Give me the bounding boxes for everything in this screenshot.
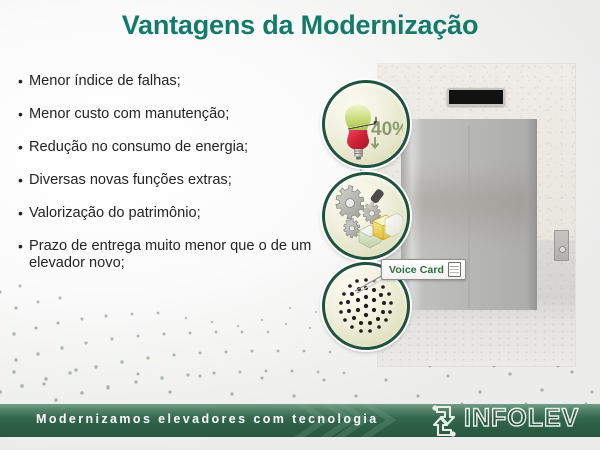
badge-maintenance-parts[interactable] <box>322 172 410 260</box>
percent-down-arrow-icon: 40% <box>329 87 403 161</box>
card-icon <box>448 262 461 277</box>
bullet-marker-icon: • <box>18 139 29 156</box>
floor-indicator-display <box>447 88 505 106</box>
brand-name: INFOLEV <box>464 404 579 433</box>
brand-logo[interactable]: INFOLEV <box>424 401 596 441</box>
list-item-label: Prazo de entrega muito menor que o de um… <box>29 238 330 272</box>
advantages-list: • Menor índice de falhas; • Menor custo … <box>18 73 330 288</box>
list-item: • Diversas novas funções extras; <box>18 172 330 189</box>
list-item-label: Redução no consumo de energia; <box>29 139 330 156</box>
list-item-label: Diversas novas funções extras; <box>29 172 330 189</box>
elevator-door-frame <box>401 119 537 310</box>
recycle-arrows-icon <box>424 401 464 441</box>
footer-tagline: Modernizamos elevadores com tecnologia <box>36 412 379 426</box>
list-item-label: Valorização do patrimônio; <box>29 205 330 222</box>
list-item: • Redução no consumo de energia; <box>18 139 330 156</box>
list-item: • Valorização do patrimônio; <box>18 205 330 222</box>
list-item-label: Menor índice de falhas; <box>29 73 330 90</box>
hall-call-button-panel[interactable] <box>554 230 569 261</box>
voice-card-label: Voice Card <box>389 264 444 276</box>
badge-energy-saving[interactable]: 40% <box>322 80 410 168</box>
voice-card-callout[interactable]: Voice Card <box>381 259 466 280</box>
slide-title: Vantagens da Modernização <box>0 10 600 41</box>
presentation-slide: Vantagens da Modernização • Menor índice… <box>0 0 600 450</box>
bullet-marker-icon: • <box>18 238 29 255</box>
bullet-marker-icon: • <box>18 172 29 189</box>
speaker-grille-icon <box>329 269 403 343</box>
list-item: • Menor custo com manutenção; <box>18 106 330 123</box>
elevator-doors <box>409 126 529 308</box>
list-item: • Menor índice de falhas; <box>18 73 330 90</box>
bullet-marker-icon: • <box>18 106 29 123</box>
door-split-line <box>468 126 470 308</box>
gears-screwdriver-box-icon <box>329 179 403 253</box>
list-item-label: Menor custo com manutenção; <box>29 106 330 123</box>
bullet-marker-icon: • <box>18 73 29 90</box>
bullet-marker-icon: • <box>18 205 29 222</box>
list-item: • Prazo de entrega muito menor que o de … <box>18 238 330 272</box>
badge-value-40: 40% <box>371 119 403 140</box>
